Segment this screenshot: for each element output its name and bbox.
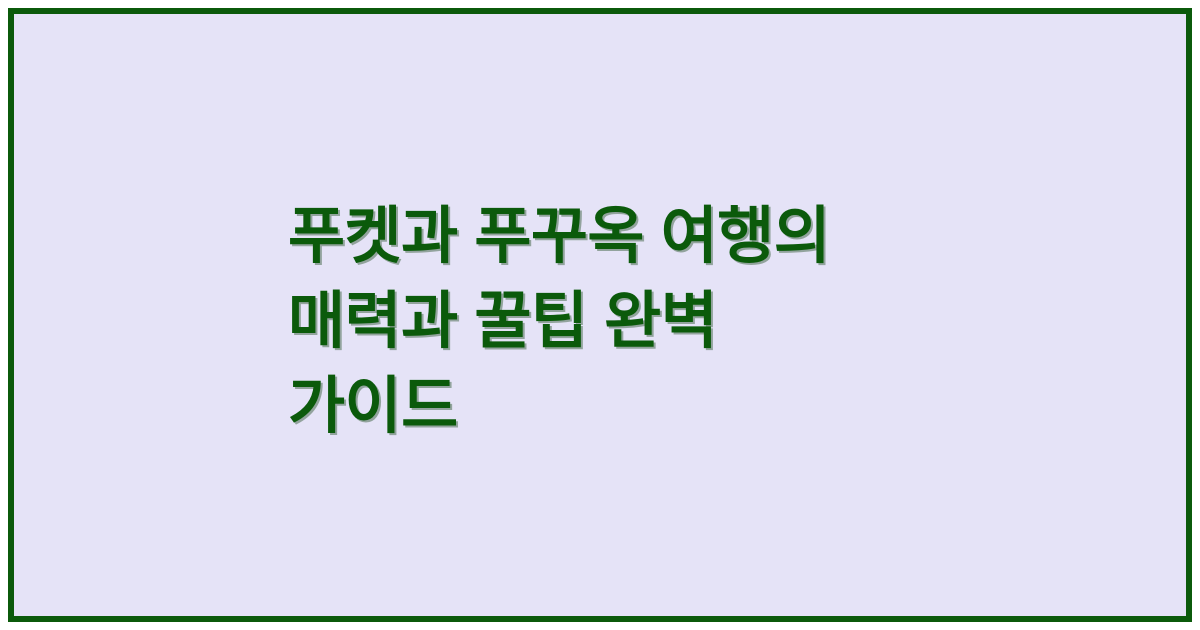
page-title: 푸켓과 푸꾸옥 여행의 매력과 꿀팁 완벽 가이드 [288,194,968,449]
share-card: 푸켓과 푸꾸옥 여행의 매력과 꿀팁 완벽 가이드 [8,8,1192,622]
title-line-1: 푸켓과 푸꾸옥 여행의 [288,194,968,279]
title-line-2: 매력과 꿀팁 완벽 [288,279,968,364]
title-line-3: 가이드 [288,364,968,449]
